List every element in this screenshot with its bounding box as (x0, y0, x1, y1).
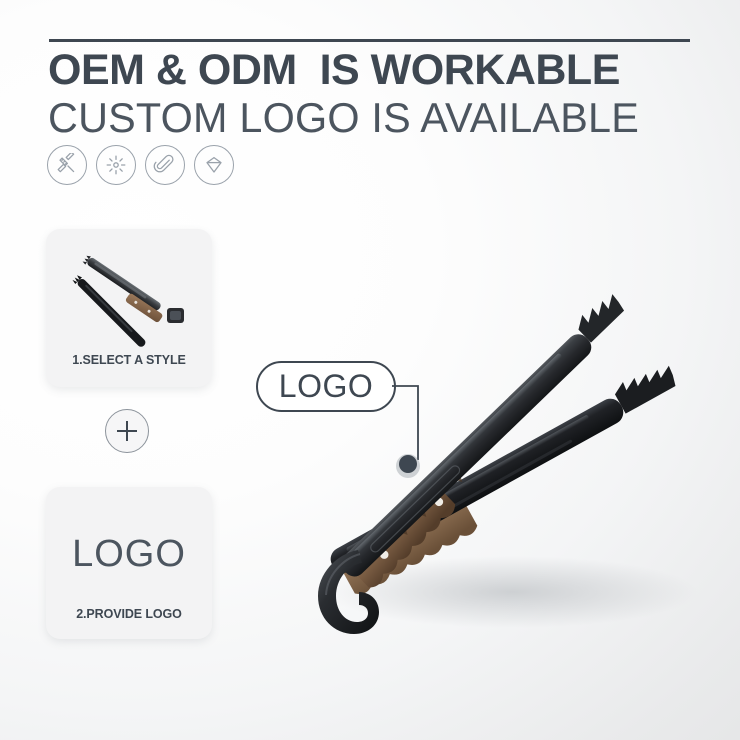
bbq-tongs-thumbnail (54, 235, 204, 347)
step-card-provide-logo[interactable]: LOGO 2.PROVIDE LOGO (46, 487, 212, 639)
promo-banner: OEM & ODM IS WORKABLE CUSTOM LOGO IS AVA… (0, 0, 740, 740)
headline-primary: OEM & ODM IS WORKABLE (48, 48, 620, 93)
header-divider-rule (49, 39, 690, 42)
sun-burst-icon (96, 145, 136, 185)
headline-secondary: CUSTOM LOGO IS AVAILABLE (48, 95, 639, 141)
logo-placeholder-text: LOGO (46, 533, 212, 576)
diamond-gem-icon (194, 145, 234, 185)
logo-placement-marker (399, 455, 417, 473)
feature-icon-row (47, 145, 234, 185)
step-card-select-style[interactable]: 1.SELECT A STYLE (46, 229, 212, 387)
step-caption: 2.PROVIDE LOGO (46, 607, 212, 621)
plus-icon (105, 409, 149, 453)
step-caption: 1.SELECT A STYLE (46, 353, 212, 367)
paperclip-icon (145, 145, 185, 185)
ruler-pencil-icon (47, 145, 87, 185)
bbq-tongs (262, 232, 724, 644)
